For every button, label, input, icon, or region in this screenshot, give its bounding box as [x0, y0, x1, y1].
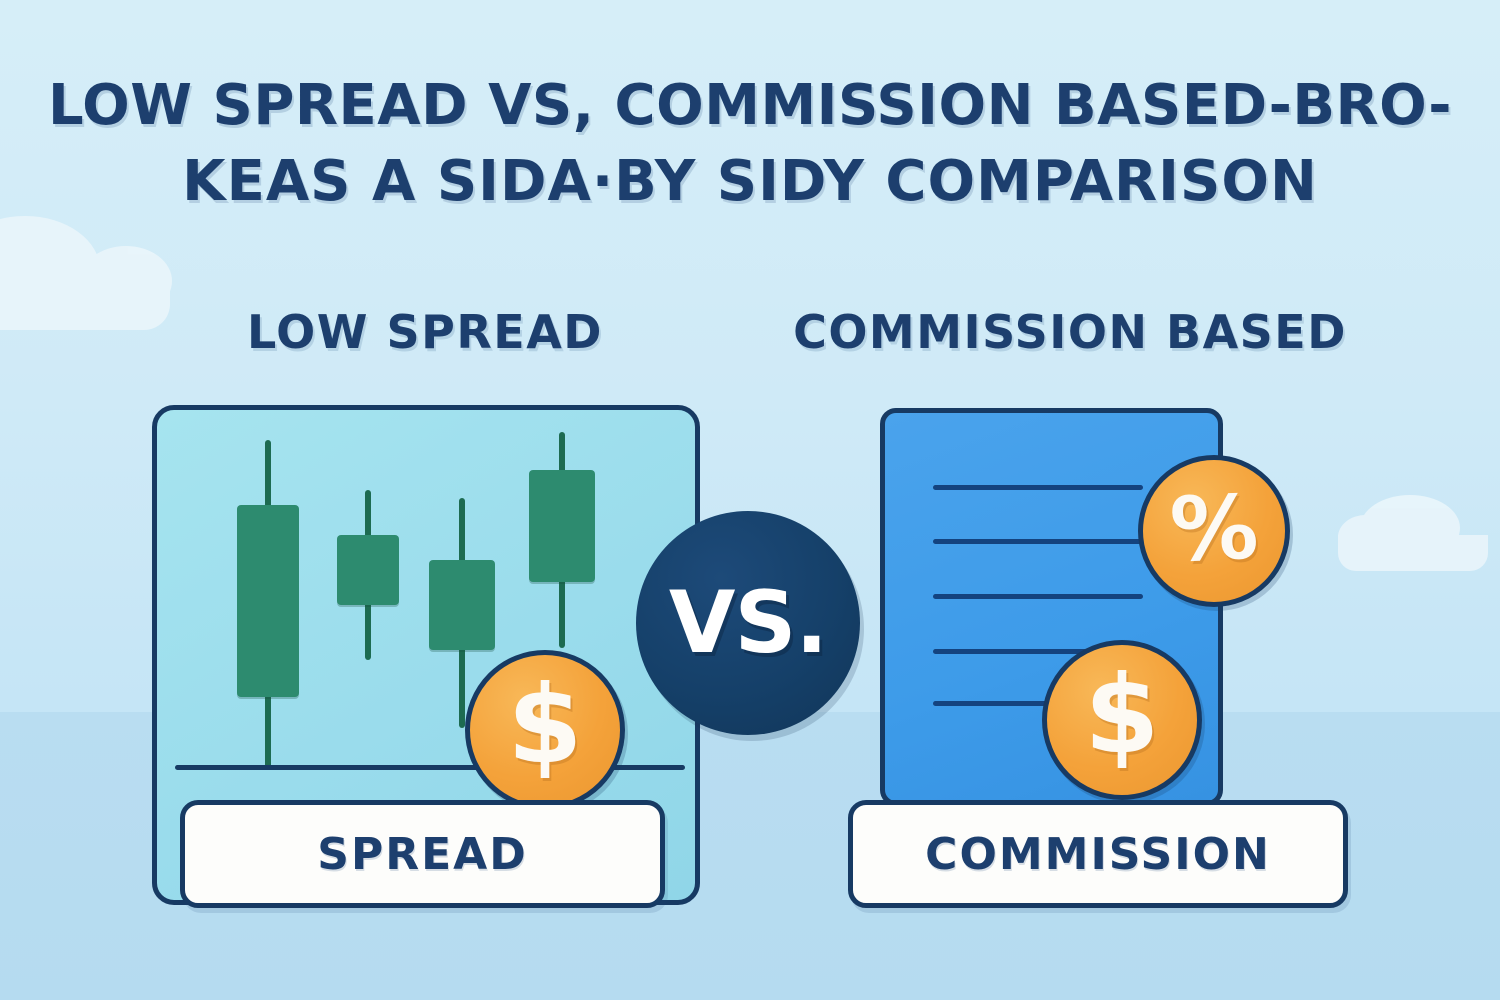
page-title: LOW SPREAD VS, COMMISSION BASED-BRO- KEA…	[0, 68, 1500, 220]
invoice-line	[933, 594, 1143, 599]
percent-glyph: %	[1168, 483, 1259, 574]
spread-label-plate: SPREAD	[180, 800, 665, 908]
invoice-line	[933, 539, 1143, 544]
left-column-heading: LOW SPREAD	[180, 305, 670, 359]
dollar-glyph: $	[1084, 662, 1159, 770]
cloud-icon	[0, 278, 170, 330]
candle-body	[237, 505, 299, 697]
percent-coin-icon: %	[1138, 455, 1290, 607]
dollar-glyph: $	[507, 672, 582, 780]
versus-badge: VS.	[636, 511, 860, 735]
candle-body	[337, 535, 399, 605]
title-line-1: LOW SPREAD VS, COMMISSION BASED-BRO-	[0, 68, 1500, 144]
commission-label-text: COMMISSION	[925, 829, 1271, 880]
infographic-canvas: LOW SPREAD VS, COMMISSION BASED-BRO- KEA…	[0, 0, 1500, 1000]
candle-body	[529, 470, 595, 582]
commission-label-plate: COMMISSION	[848, 800, 1348, 908]
candlestick-2	[337, 490, 399, 660]
dollar-coin-icon: $	[1042, 640, 1202, 800]
invoice-line	[933, 485, 1143, 490]
right-column-heading: COMMISSION BASED	[790, 305, 1350, 359]
candlestick-4	[529, 432, 595, 648]
dollar-coin-icon: $	[465, 650, 625, 810]
cloud-icon	[1338, 535, 1488, 571]
spread-label-text: SPREAD	[317, 829, 527, 880]
title-line-2: KEAS A SIDA·BY SIDY COMPARISON	[0, 144, 1500, 220]
candlestick-1	[237, 440, 299, 770]
candle-body	[429, 560, 495, 650]
versus-label: VS.	[669, 573, 827, 673]
